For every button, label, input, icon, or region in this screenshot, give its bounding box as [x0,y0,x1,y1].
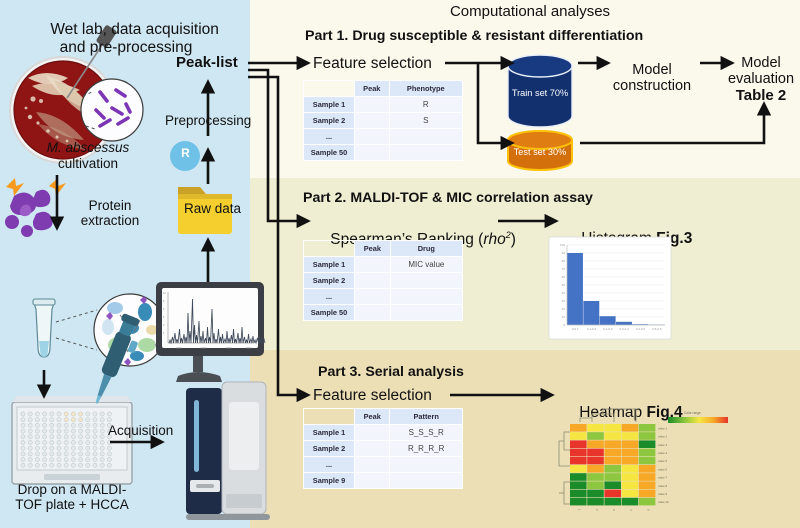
arrow-peaklist-part3 [248,77,308,395]
arrow-test-evaluation [580,104,764,143]
raw-data-label: Raw data [184,201,241,216]
arrow-featureselection-test [478,63,512,143]
flow-connectors [0,0,800,528]
r-badge-label: R [173,147,198,160]
workflow-figure: Wet lab, data acquisition and pre-proces… [0,0,800,528]
